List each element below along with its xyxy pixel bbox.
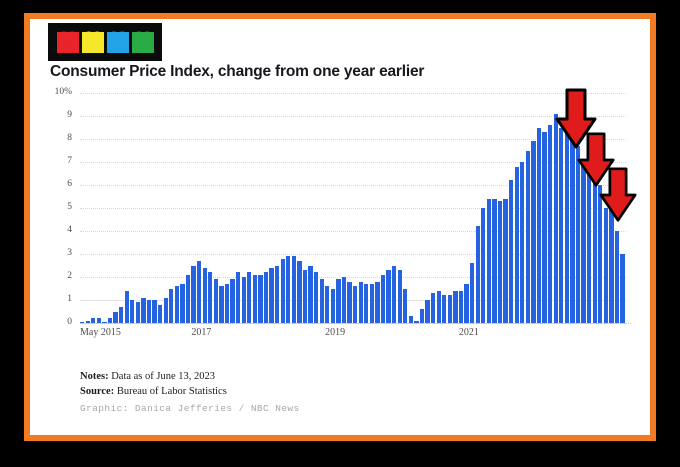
bar bbox=[147, 300, 151, 323]
bar bbox=[152, 300, 156, 323]
chart-footer: Notes: Data as of June 13, 2023 Source: … bbox=[80, 369, 620, 417]
bar bbox=[158, 305, 162, 323]
bar bbox=[242, 277, 246, 323]
bar bbox=[164, 298, 168, 323]
bar bbox=[269, 268, 273, 323]
bar bbox=[219, 286, 223, 323]
y-axis-label-6: 6 bbox=[30, 179, 72, 189]
bar bbox=[620, 254, 624, 323]
bar bbox=[247, 272, 251, 323]
footer-source-text: Bureau of Labor Statistics bbox=[114, 386, 227, 397]
x-axis-label-3: 2021 bbox=[459, 327, 479, 338]
bar bbox=[359, 282, 363, 323]
footer-credit: Graphic: Danica Jefferies / NBC News bbox=[80, 401, 620, 417]
bar bbox=[342, 277, 346, 323]
chart-title: Consumer Price Index, change from one ye… bbox=[50, 63, 630, 81]
y-axis-label-8: 8 bbox=[30, 133, 72, 143]
bar bbox=[615, 231, 619, 323]
bar bbox=[403, 289, 407, 324]
y-axis-label-4: 4 bbox=[30, 225, 72, 235]
bar bbox=[136, 302, 140, 323]
bar bbox=[448, 295, 452, 323]
bar bbox=[180, 284, 184, 323]
bar bbox=[604, 208, 608, 323]
bar bbox=[392, 266, 396, 324]
x-axis-label-0: May 2015 bbox=[80, 327, 121, 338]
bar bbox=[542, 132, 546, 323]
bar bbox=[175, 286, 179, 323]
bar bbox=[258, 275, 262, 323]
bar bbox=[537, 128, 541, 324]
bar bbox=[320, 279, 324, 323]
bar bbox=[437, 291, 441, 323]
bar bbox=[169, 289, 173, 324]
y-axis-label-3: 3 bbox=[30, 248, 72, 258]
bar bbox=[487, 199, 491, 323]
bar bbox=[325, 286, 329, 323]
bar bbox=[526, 151, 530, 324]
bar bbox=[559, 128, 563, 324]
y-axis-label-7: 7 bbox=[30, 156, 72, 166]
x-axis-label-2: 2019 bbox=[325, 327, 345, 338]
footer-notes: Notes: Data as of June 13, 2023 bbox=[80, 369, 620, 384]
bar bbox=[409, 316, 413, 323]
bar bbox=[375, 282, 379, 323]
y-axis-label-5: 5 bbox=[30, 202, 72, 212]
bar bbox=[308, 266, 312, 324]
bar bbox=[225, 284, 229, 323]
bar bbox=[314, 272, 318, 323]
bar bbox=[130, 300, 134, 323]
bar bbox=[593, 176, 597, 323]
bar bbox=[370, 284, 374, 323]
bar bbox=[347, 282, 351, 323]
bar bbox=[570, 134, 574, 323]
bar bbox=[281, 259, 285, 323]
bar bbox=[481, 208, 485, 323]
bar bbox=[587, 174, 591, 324]
bar bbox=[292, 256, 296, 323]
bar bbox=[420, 309, 424, 323]
bar bbox=[515, 167, 519, 323]
bar bbox=[186, 275, 190, 323]
bar bbox=[236, 272, 240, 323]
bar bbox=[565, 132, 569, 323]
x-axis-tick-labels: May 2015201720192021 bbox=[80, 327, 640, 343]
bar bbox=[141, 298, 145, 323]
bar bbox=[492, 199, 496, 323]
bar bbox=[331, 289, 335, 324]
bar bbox=[498, 201, 502, 323]
bar bbox=[431, 293, 435, 323]
bar bbox=[208, 272, 212, 323]
bar bbox=[264, 272, 268, 323]
y-axis-label-9: 9 bbox=[30, 110, 72, 120]
four-hearts-logo bbox=[48, 23, 162, 61]
bar bbox=[531, 141, 535, 323]
bar bbox=[353, 286, 357, 323]
bar bbox=[381, 275, 385, 323]
bar bbox=[297, 261, 301, 323]
bar bbox=[548, 125, 552, 323]
bar bbox=[113, 312, 117, 324]
bar bbox=[453, 291, 457, 323]
y-axis-label-1: 1 bbox=[30, 294, 72, 304]
footer-source: Source: Bureau of Labor Statistics bbox=[80, 384, 620, 399]
bar bbox=[509, 180, 513, 323]
bar bbox=[503, 199, 507, 323]
y-axis-label-10: 10% bbox=[30, 87, 72, 97]
bar bbox=[253, 275, 257, 323]
screenshot-root: Consumer Price Index, change from one ye… bbox=[0, 0, 680, 467]
x-axis-label-1: 2017 bbox=[191, 327, 211, 338]
bar bbox=[286, 256, 290, 323]
bar bbox=[476, 226, 480, 323]
bar bbox=[197, 261, 201, 323]
footer-notes-label: Notes: bbox=[80, 371, 109, 382]
y-axis-label-2: 2 bbox=[30, 271, 72, 281]
bar bbox=[442, 295, 446, 323]
bar bbox=[191, 266, 195, 324]
bar bbox=[119, 307, 123, 323]
bar bbox=[464, 284, 468, 323]
heart-green-icon bbox=[132, 32, 154, 53]
heart-yellow-icon bbox=[82, 32, 104, 53]
bar bbox=[459, 291, 463, 323]
heart-red-icon bbox=[57, 32, 79, 53]
red-down-arrow-3 bbox=[598, 167, 638, 223]
bar bbox=[425, 300, 429, 323]
chart-card: Consumer Price Index, change from one ye… bbox=[30, 19, 650, 435]
bar bbox=[275, 266, 279, 324]
axis-baseline bbox=[80, 323, 631, 324]
footer-notes-text: Data as of June 13, 2023 bbox=[109, 371, 215, 382]
bar bbox=[364, 284, 368, 323]
bars-layer bbox=[80, 93, 626, 323]
bar bbox=[398, 270, 402, 323]
bar bbox=[386, 270, 390, 323]
bar bbox=[203, 268, 207, 323]
bar bbox=[303, 270, 307, 323]
chart-plot-area: 012345678910% bbox=[80, 93, 626, 323]
bar bbox=[214, 279, 218, 323]
bar bbox=[470, 263, 474, 323]
heart-blue-icon bbox=[107, 32, 129, 53]
bar bbox=[609, 210, 613, 323]
bar bbox=[336, 279, 340, 323]
bar bbox=[520, 162, 524, 323]
y-axis-label-0: 0 bbox=[30, 317, 72, 327]
footer-source-label: Source: bbox=[80, 386, 114, 397]
bar bbox=[125, 291, 129, 323]
bar bbox=[230, 279, 234, 323]
